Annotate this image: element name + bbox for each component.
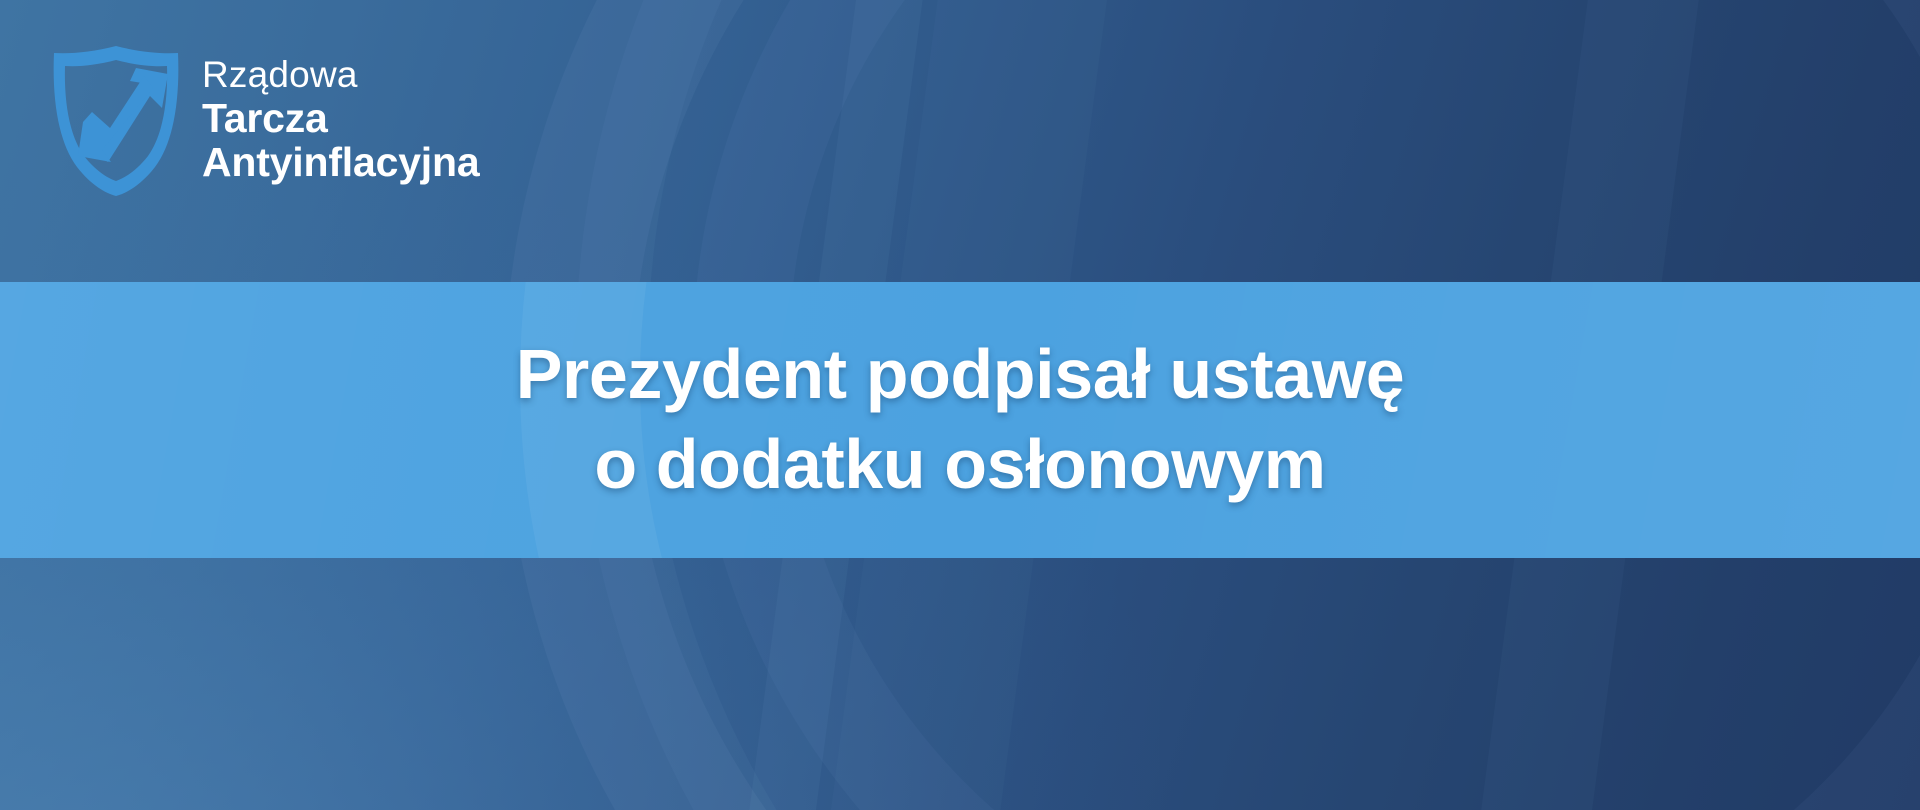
shield-with-arrows-icon xyxy=(52,46,180,196)
headline-band: Prezydent podpisał ustawę o dodatku osło… xyxy=(0,282,1920,558)
logo-line-tarcza: Tarcza xyxy=(202,98,479,139)
headline-line-1: Prezydent podpisał ustawę xyxy=(516,330,1405,420)
banner-root: Rządowa Tarcza Antyinflacyjna Prezydent … xyxy=(0,0,1920,810)
logo-line-rzadowa: Rządowa xyxy=(202,56,479,93)
logo-wordmark: Rządowa Tarcza Antyinflacyjna xyxy=(202,56,479,186)
program-logo: Rządowa Tarcza Antyinflacyjna xyxy=(52,46,479,196)
headline-text: Prezydent podpisał ustawę o dodatku osło… xyxy=(476,330,1445,509)
logo-line-antyinflacyjna: Antyinflacyjna xyxy=(202,142,479,183)
headline-line-2: o dodatku osłonowym xyxy=(516,420,1405,510)
